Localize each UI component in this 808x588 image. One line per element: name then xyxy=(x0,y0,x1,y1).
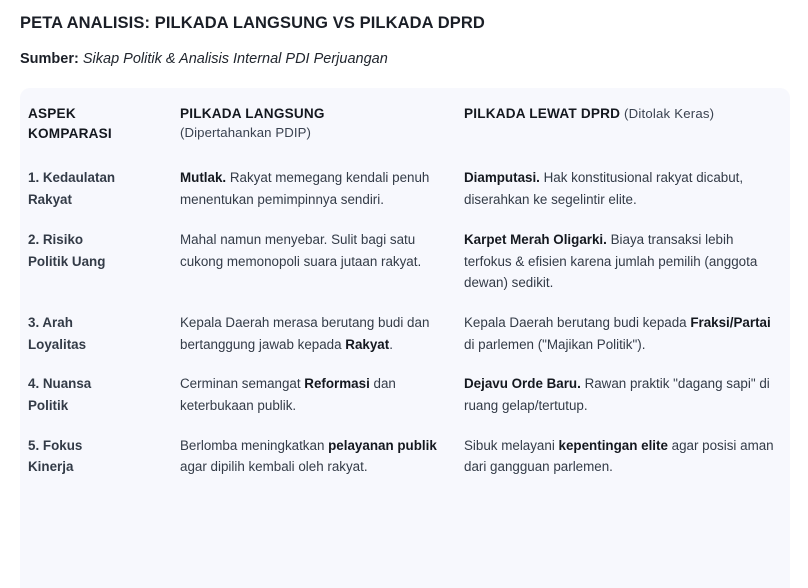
row-aspect-label: 3. Arah Loyalitas xyxy=(20,303,172,364)
row-aspect-line2: Politik xyxy=(28,398,68,413)
row-cell-langsung: Mutlak. Rakyat memegang kendali penuh me… xyxy=(172,153,456,219)
column-header-aspek: ASPEK KOMPARASI xyxy=(20,88,172,153)
document-heading: PETA ANALISIS: PILKADA LANGSUNG VS PILKA… xyxy=(0,0,808,70)
column-header-pilkada-langsung-main: PILKADA LANGSUNG xyxy=(180,104,442,124)
row-cell-dprd-bold: Fraksi/Partai xyxy=(690,315,770,330)
row-aspect-label: 4. Nuansa Politik xyxy=(20,364,172,425)
row-cell-langsung-pre: Berlomba meningkatkan xyxy=(180,438,328,453)
row-aspect-line2: Loyalitas xyxy=(28,337,86,352)
analysis-document-page: PETA ANALISIS: PILKADA LANGSUNG VS PILKA… xyxy=(0,0,808,560)
row-cell-dprd-post: di parlemen ("Majikan Politik"). xyxy=(464,337,645,352)
row-aspect-line1: 5. Fokus xyxy=(28,438,82,453)
row-aspect-line1: 4. Nuansa xyxy=(28,376,91,391)
row-cell-dprd: Diamputasi. Hak konstitusional rakyat di… xyxy=(456,153,790,219)
row-cell-dprd-lead: Karpet Merah Oligarki. xyxy=(464,232,607,247)
column-header-pilkada-langsung: PILKADA LANGSUNG (Dipertahankan PDIP) xyxy=(172,88,456,153)
row-cell-dprd-lead: Diamputasi. xyxy=(464,170,540,185)
row-cell-dprd: Karpet Merah Oligarki. Biaya transaksi l… xyxy=(456,220,790,303)
row-cell-dprd-bold: kepentingan elite xyxy=(559,438,668,453)
column-header-pilkada-dprd: PILKADA LEWAT DPRD (Ditolak Keras) xyxy=(456,88,790,153)
row-cell-langsung: Kepala Daerah merasa berutang budi dan b… xyxy=(172,303,456,364)
row-cell-langsung-bold: Reformasi xyxy=(304,376,370,391)
source-value: Sikap Politik & Analisis Internal PDI Pe… xyxy=(83,51,388,67)
row-cell-langsung-bold: pelayanan publik xyxy=(328,438,437,453)
row-cell-langsung: Berlomba meningkatkan pelayanan publik a… xyxy=(172,426,456,487)
source-label: Sumber: xyxy=(20,51,79,67)
page-title: PETA ANALISIS: PILKADA LANGSUNG VS PILKA… xyxy=(20,12,788,34)
column-header-pilkada-dprd-main: PILKADA LEWAT DPRD xyxy=(464,106,620,121)
source-line: Sumber: Sikap Politik & Analisis Interna… xyxy=(20,50,788,70)
row-aspect-line1: 1. Kedaulatan xyxy=(28,170,115,185)
row-aspect-line2: Rakyat xyxy=(28,192,72,207)
column-header-pilkada-dprd-wrap: PILKADA LEWAT DPRD (Ditolak Keras) xyxy=(464,104,776,124)
row-cell-dprd-pre: Kepala Daerah berutang budi kepada xyxy=(464,315,690,330)
row-cell-dprd-pre: Sibuk melayani xyxy=(464,438,559,453)
table-row: 4. Nuansa Politik Cerminan semangat Refo… xyxy=(20,364,790,425)
comparison-table: ASPEK KOMPARASI PILKADA LANGSUNG (Dipert… xyxy=(20,88,790,487)
table-row: 3. Arah Loyalitas Kepala Daerah merasa b… xyxy=(20,303,790,364)
row-aspect-label: 1. Kedaulatan Rakyat xyxy=(20,153,172,219)
row-cell-langsung-bold: Rakyat xyxy=(345,337,389,352)
row-cell-langsung-lead: Mutlak. xyxy=(180,170,226,185)
table-header: ASPEK KOMPARASI PILKADA LANGSUNG (Dipert… xyxy=(20,88,790,153)
row-cell-langsung-rest: Mahal namun menyebar. Sulit bagi satu cu… xyxy=(180,232,421,269)
row-cell-dprd: Dejavu Orde Baru. Rawan praktik "dagang … xyxy=(456,364,790,425)
comparison-table-card: ASPEK KOMPARASI PILKADA LANGSUNG (Dipert… xyxy=(20,88,790,588)
row-cell-langsung: Mahal namun menyebar. Sulit bagi satu cu… xyxy=(172,220,456,303)
row-cell-dprd-lead: Dejavu Orde Baru. xyxy=(464,376,581,391)
table-row: 5. Fokus Kinerja Berlomba meningkatkan p… xyxy=(20,426,790,487)
row-aspect-line2: Politik Uang xyxy=(28,254,105,269)
column-header-pilkada-dprd-sub: (Ditolak Keras) xyxy=(624,106,714,121)
table-row: 1. Kedaulatan Rakyat Mutlak. Rakyat meme… xyxy=(20,153,790,219)
row-cell-dprd: Kepala Daerah berutang budi kepada Fraks… xyxy=(456,303,790,364)
row-aspect-line1: 3. Arah xyxy=(28,315,73,330)
row-cell-dprd: Sibuk melayani kepentingan elite agar po… xyxy=(456,426,790,487)
column-header-aspek-line2: KOMPARASI xyxy=(28,124,158,144)
table-row: 2. Risiko Politik Uang Mahal namun menye… xyxy=(20,220,790,303)
row-cell-langsung-post: . xyxy=(389,337,393,352)
table-header-row: ASPEK KOMPARASI PILKADA LANGSUNG (Dipert… xyxy=(20,88,790,153)
row-aspect-label: 5. Fokus Kinerja xyxy=(20,426,172,487)
column-header-pilkada-langsung-sub: (Dipertahankan PDIP) xyxy=(180,125,311,140)
row-aspect-line1: 2. Risiko xyxy=(28,232,83,247)
column-header-aspek-line1: ASPEK xyxy=(28,104,158,124)
row-cell-langsung: Cerminan semangat Reformasi dan keterbuk… xyxy=(172,364,456,425)
row-aspect-line2: Kinerja xyxy=(28,459,73,474)
row-cell-langsung-pre: Cerminan semangat xyxy=(180,376,304,391)
row-cell-langsung-post: agar dipilih kembali oleh rakyat. xyxy=(180,459,368,474)
row-aspect-label: 2. Risiko Politik Uang xyxy=(20,220,172,303)
table-body: 1. Kedaulatan Rakyat Mutlak. Rakyat meme… xyxy=(20,153,790,487)
